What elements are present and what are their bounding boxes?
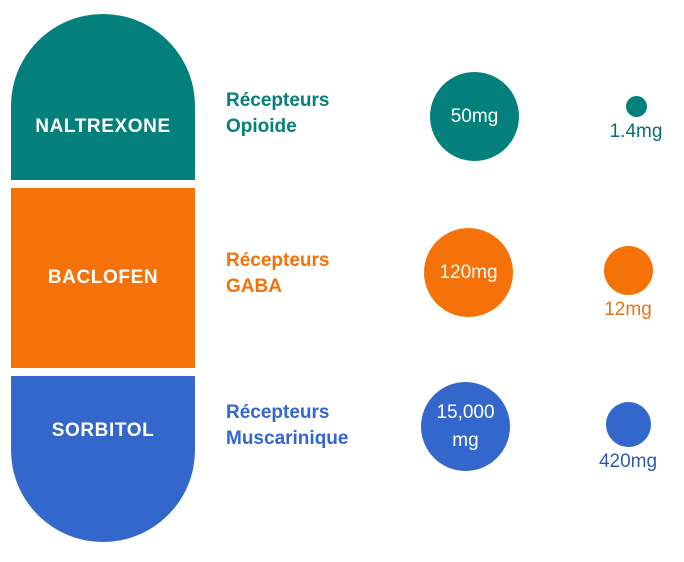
dose-bubble-small-baclofen [604, 246, 653, 295]
dose-bubble-small-sorbitol [606, 402, 651, 447]
receptor-label-sorbitol: Récepteurs Muscarinique [226, 400, 416, 452]
capsule-segment-naltrexone: NALTREXONE [11, 14, 195, 180]
dose-bubble-small-label-baclofen: 12mg [568, 299, 684, 322]
dose-line-1: 50mg [451, 106, 499, 127]
capsule-segment-baclofen: BACLOFEN [11, 188, 195, 368]
dose-bubble-small-naltrexone [626, 96, 647, 117]
capsule-label-sorbitol: SORBITOL [52, 421, 155, 442]
receptor-line-1: Récepteurs [226, 248, 416, 274]
dose-bubble-small-group-sorbitol: 420mg [568, 402, 684, 474]
dose-bubble-large-label-sorbitol: 15,000 mg [436, 399, 494, 454]
dose-bubble-large-label-baclofen: 120mg [439, 259, 497, 287]
dose-bubble-large-baclofen: 120mg [424, 228, 513, 317]
dose-bubble-large-sorbitol: 15,000 mg [421, 382, 510, 471]
receptor-dose-infographic: NALTREXONE BACLOFEN SORBITOL Récepteurs … [0, 0, 684, 562]
dose-line-1: 15,000 [436, 402, 494, 423]
dose-line-2: mg [436, 427, 494, 455]
receptor-label-naltrexone: Récepteurs Opioide [226, 88, 416, 140]
receptor-line-2: Muscarinique [226, 426, 416, 452]
receptor-line-2: Opioide [226, 114, 416, 140]
capsule-segment-sorbitol: SORBITOL [11, 376, 195, 542]
dose-bubble-small-label-naltrexone: 1.4mg [576, 121, 684, 144]
dose-bubble-small-group-baclofen: 12mg [568, 246, 684, 322]
capsule-label-naltrexone: NALTREXONE [35, 117, 170, 138]
capsule-label-baclofen: BACLOFEN [48, 268, 158, 289]
dose-line-1: 120mg [439, 262, 497, 283]
dose-bubble-large-label-naltrexone: 50mg [451, 103, 499, 131]
dose-bubble-large-naltrexone: 50mg [430, 72, 519, 161]
receptor-line-1: Récepteurs [226, 400, 416, 426]
receptor-label-baclofen: Récepteurs GABA [226, 248, 416, 300]
dose-bubble-small-group-naltrexone: 1.4mg [576, 96, 684, 144]
receptor-line-1: Récepteurs [226, 88, 416, 114]
dose-bubble-small-label-sorbitol: 420mg [568, 451, 684, 474]
receptor-line-2: GABA [226, 274, 416, 300]
